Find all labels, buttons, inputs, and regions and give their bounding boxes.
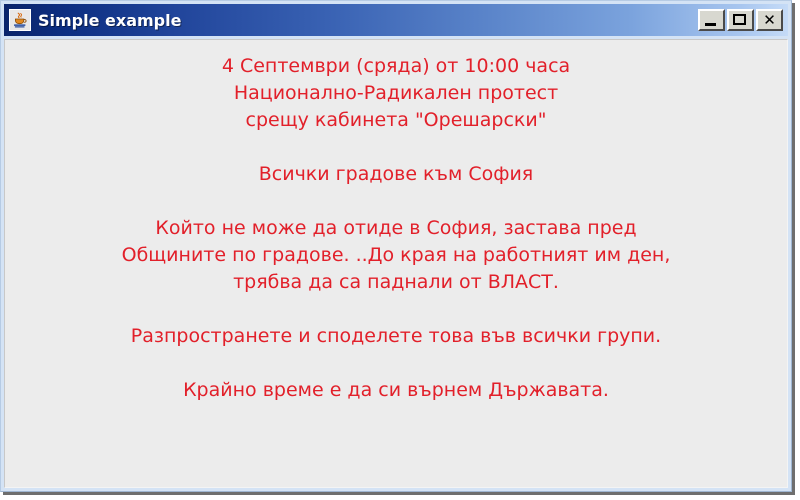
- window-title: Simple example: [38, 11, 698, 30]
- java-coffee-cup-icon[interactable]: [9, 9, 31, 31]
- close-icon: ✕: [758, 11, 781, 29]
- minimize-icon: [705, 23, 716, 26]
- close-button[interactable]: ✕: [756, 9, 783, 31]
- window-controls: ✕: [698, 9, 783, 31]
- application-window: Simple example ✕ 4 Септември (сряда) от …: [0, 0, 792, 492]
- maximize-button[interactable]: [727, 9, 754, 31]
- minimize-button[interactable]: [698, 9, 725, 31]
- maximize-icon: [733, 14, 746, 25]
- title-bar[interactable]: Simple example ✕: [4, 4, 788, 36]
- message-text: 4 Септември (сряда) от 10:00 часа Национ…: [5, 40, 787, 404]
- content-panel: 4 Септември (сряда) от 10:00 часа Национ…: [4, 39, 788, 488]
